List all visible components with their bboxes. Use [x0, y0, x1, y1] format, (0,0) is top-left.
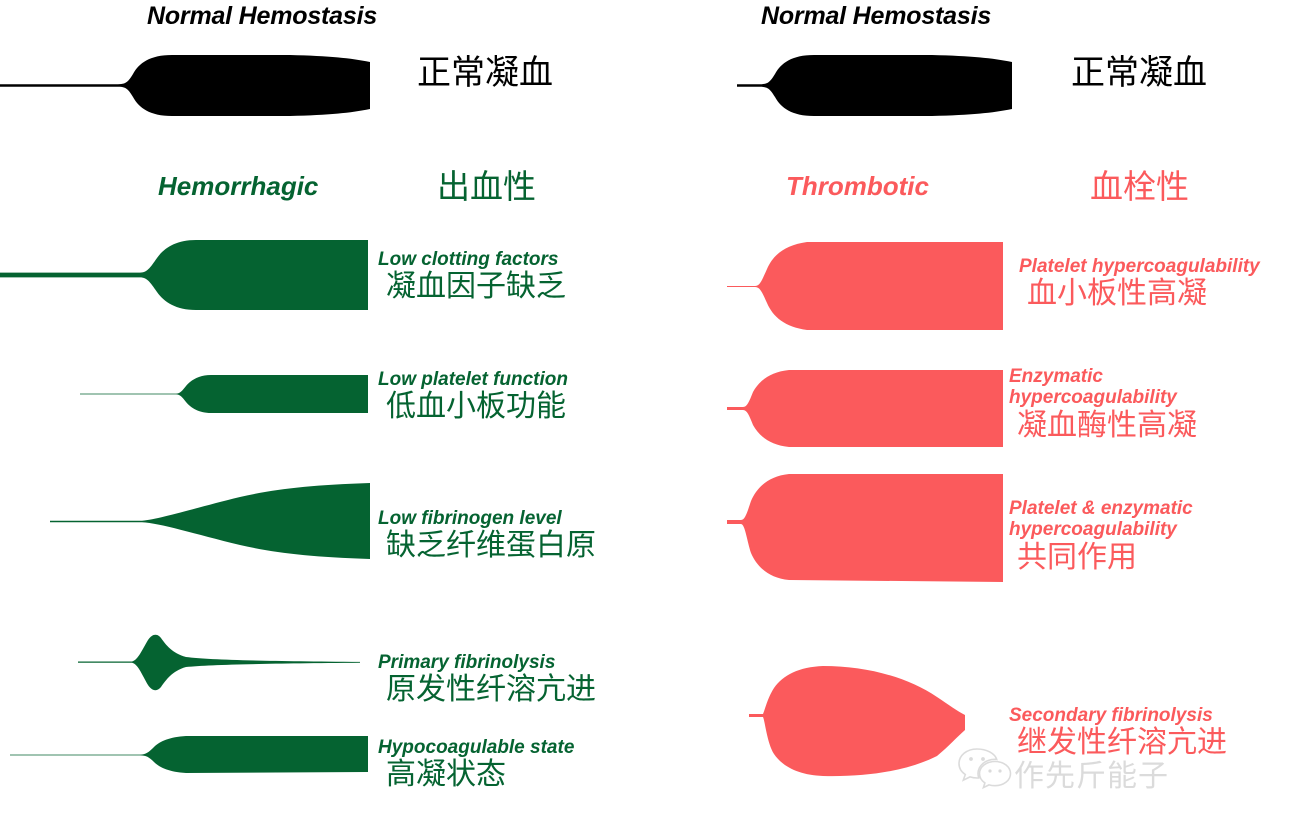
label-platelet-hypercoagulability-cn: 血小板性高凝 [1019, 277, 1260, 311]
label-low-fibrinogen-level: Low fibrinogen level 缺乏纤维蛋白原 [378, 508, 596, 563]
teg-diagram: Normal Hemostasis 正常凝血 Hemorrhagic 出血性 L… [0, 0, 1294, 838]
teg-tracing-low-platelet-function [80, 360, 380, 430]
label-platelet-enzymatic-cn: 共同作用 [1009, 541, 1193, 575]
teg-tracing-low-fibrinogen-level [0, 478, 380, 588]
label-secondary-fibrinolysis: Secondary fibrinolysis 继发性纤溶亢进 [1009, 705, 1227, 760]
label-hypocoagulable-state-cn: 高凝状态 [378, 758, 574, 792]
label-enzymatic-hypercoagulability-en2: hypercoagulability [1009, 387, 1197, 408]
label-primary-fibrinolysis-en: Primary fibrinolysis [378, 652, 596, 673]
category-header-en-thrombotic: Thrombotic [786, 173, 929, 199]
label-low-fibrinogen-level-cn: 缺乏纤维蛋白原 [378, 529, 596, 563]
teg-tracing-primary-fibrinolysis [60, 620, 390, 710]
label-enzymatic-hypercoagulability-en: Enzymatic [1009, 366, 1197, 387]
normal-hemostasis-header-en-right: Normal Hemostasis [761, 4, 991, 29]
label-low-platelet-function-en: Low platelet function [378, 369, 568, 390]
label-secondary-fibrinolysis-en: Secondary fibrinolysis [1009, 705, 1227, 726]
label-platelet-enzymatic-en2: hypercoagulability [1009, 519, 1193, 540]
normal-hemostasis-header-cn: 正常凝血 [417, 56, 553, 90]
label-enzymatic-hypercoagulability: Enzymatic hypercoagulability 凝血酶性高凝 [1009, 366, 1197, 442]
label-hypocoagulable-state-en: Hypocoagulable state [378, 737, 574, 758]
teg-tracing-hypocoagulable-state [0, 728, 380, 798]
hemorrhagic-column: Normal Hemostasis 正常凝血 Hemorrhagic 出血性 L… [0, 0, 647, 838]
label-platelet-hypercoagulability: Platelet hypercoagulability 血小板性高凝 [1019, 256, 1260, 311]
label-primary-fibrinolysis-cn: 原发性纤溶亢进 [378, 673, 596, 707]
category-header-en-hemorrhagic: Hemorrhagic [158, 173, 318, 199]
label-low-platelet-function-cn: 低血小板功能 [378, 390, 568, 424]
label-enzymatic-hypercoagulability-cn: 凝血酶性高凝 [1009, 409, 1197, 443]
label-low-clotting-factors: Low clotting factors 凝血因子缺乏 [378, 249, 566, 304]
thrombotic-column: Normal Hemostasis 正常凝血 Thrombotic 血栓性 Pl… [647, 0, 1294, 838]
teg-tracing-secondary-fibrinolysis [727, 655, 1017, 780]
label-low-platelet-function: Low platelet function 低血小板功能 [378, 369, 568, 424]
teg-tracing-platelet-hypercoagulability [727, 232, 1017, 342]
category-header-cn-hemorrhagic: 出血性 [437, 170, 536, 203]
label-low-clotting-factors-en: Low clotting factors [378, 249, 566, 270]
teg-tracing-platelet-enzymatic-hypercoagulability [727, 468, 1017, 588]
label-hypocoagulable-state: Hypocoagulable state 高凝状态 [378, 737, 574, 792]
label-secondary-fibrinolysis-cn: 继发性纤溶亢进 [1009, 726, 1227, 760]
label-platelet-hypercoagulability-en: Platelet hypercoagulability [1019, 256, 1260, 277]
teg-tracing-low-clotting-factors [0, 230, 380, 330]
label-platelet-enzymatic-hypercoagulability: Platelet & enzymatic hypercoagulability … [1009, 498, 1193, 574]
label-low-clotting-factors-cn: 凝血因子缺乏 [378, 270, 566, 304]
teg-tracing-enzymatic-hypercoagulability [727, 362, 1017, 457]
category-header-cn-thrombotic: 血栓性 [1090, 170, 1189, 203]
label-platelet-enzymatic-en: Platelet & enzymatic [1009, 498, 1193, 519]
teg-tracing-normal-left [0, 30, 400, 140]
teg-tracing-normal-right [737, 30, 1097, 140]
normal-hemostasis-header-en: Normal Hemostasis [147, 4, 377, 29]
label-low-fibrinogen-level-en: Low fibrinogen level [378, 508, 596, 529]
label-primary-fibrinolysis: Primary fibrinolysis 原发性纤溶亢进 [378, 652, 596, 707]
